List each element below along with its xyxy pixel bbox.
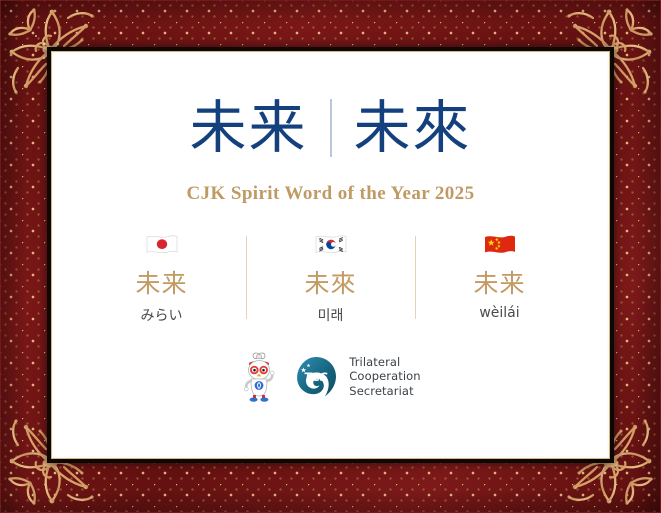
certificate-subtitle: CJK Spirit Word of the Year 2025 <box>187 183 475 205</box>
mascot-character-icon <box>240 351 278 403</box>
language-column-china: 未来 wèilái <box>424 234 576 325</box>
headline-word-traditional: 未來 <box>332 100 472 157</box>
tcs-name-block: Trilateral Cooperation Secretariat <box>349 355 420 397</box>
language-word-korea: 未來 <box>304 270 356 298</box>
language-column-japan: 未来 みらい <box>86 234 238 325</box>
south-korea-flag-icon <box>315 234 347 256</box>
japan-flag-icon <box>146 234 178 256</box>
certificate-frame: 未来 未來 CJK Spirit Word of the Year 2025 <box>0 0 661 513</box>
tcs-logo-lockup: TCS Trilateral Cooperation Secretariat <box>292 353 420 401</box>
logo-strip: TCS Trilateral Cooperation Secretariat <box>240 351 420 403</box>
card-shadow-edge: 未来 未來 CJK Spirit Word of the Year 2025 <box>47 47 614 463</box>
tcs-name-line-1: Trilateral <box>349 355 420 369</box>
card-gold-rule: 未来 未來 CJK Spirit Word of the Year 2025 <box>51 51 610 459</box>
tcs-name-line-2: Cooperation <box>349 369 420 383</box>
tcs-swirl-logo-icon: TCS <box>292 353 340 401</box>
headline: 未来 未來 <box>190 91 472 165</box>
language-reading-china: wèilái <box>479 305 519 321</box>
tcs-mark-text: TCS <box>304 370 328 384</box>
column-divider-1 <box>246 236 247 319</box>
certificate-card: 未来 未來 CJK Spirit Word of the Year 2025 <box>54 54 607 456</box>
tcs-name-line-3: Secretariat <box>349 384 420 398</box>
language-column-korea: 未來 미래 <box>255 234 407 325</box>
language-row: 未来 みらい <box>86 234 576 325</box>
language-word-china: 未来 <box>473 270 525 298</box>
language-reading-japan: みらい <box>141 305 183 325</box>
column-divider-2 <box>415 236 416 319</box>
language-reading-korea: 미래 <box>318 305 344 325</box>
language-word-japan: 未来 <box>135 270 187 298</box>
headline-word-simplified: 未来 <box>190 100 330 157</box>
china-flag-icon <box>484 234 516 256</box>
